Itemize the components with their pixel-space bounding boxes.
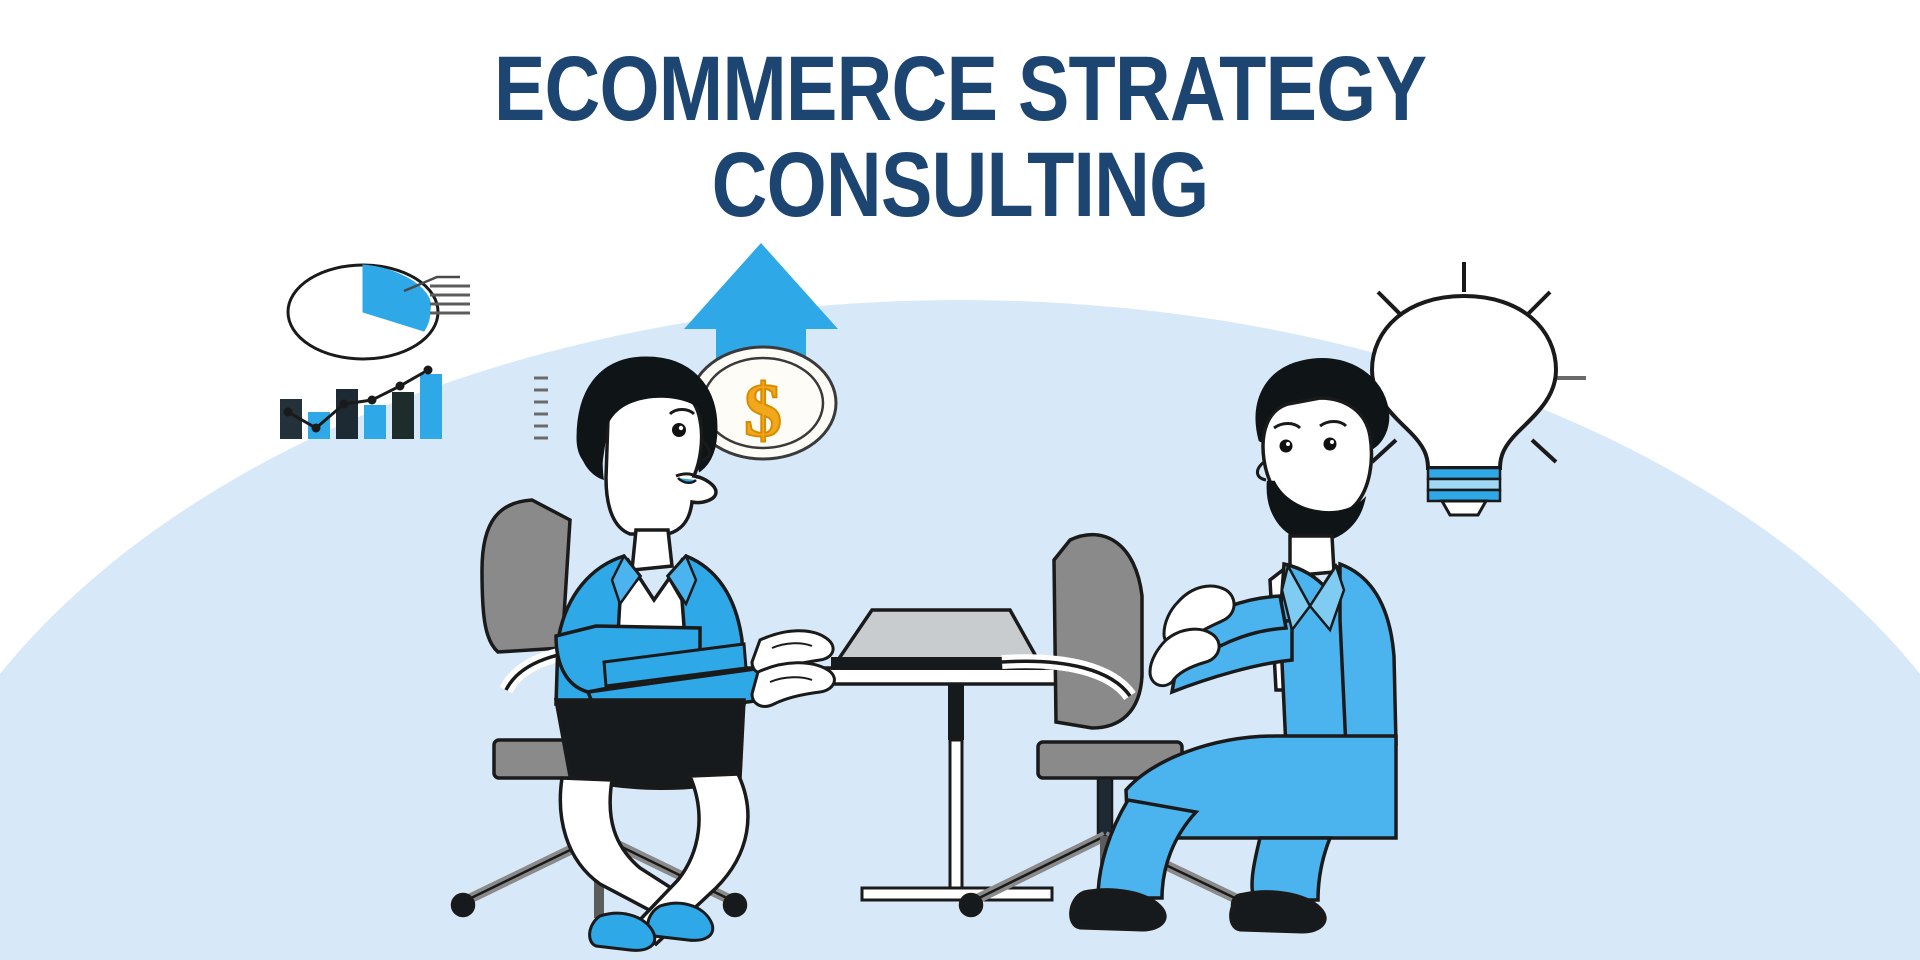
- title-line-2: CONSULTING: [154, 140, 1767, 230]
- title-line-1: ECOMMERCE STRATEGY: [154, 44, 1767, 134]
- bar-chart-icon: [280, 366, 442, 440]
- page-title: ECOMMERCE STRATEGY CONSULTING: [0, 44, 1920, 230]
- banner-root: ECOMMERCE STRATEGY CONSULTING: [0, 0, 1920, 960]
- dollar-symbol-text: $: [744, 369, 782, 453]
- axis-ticks-icon: [534, 378, 548, 438]
